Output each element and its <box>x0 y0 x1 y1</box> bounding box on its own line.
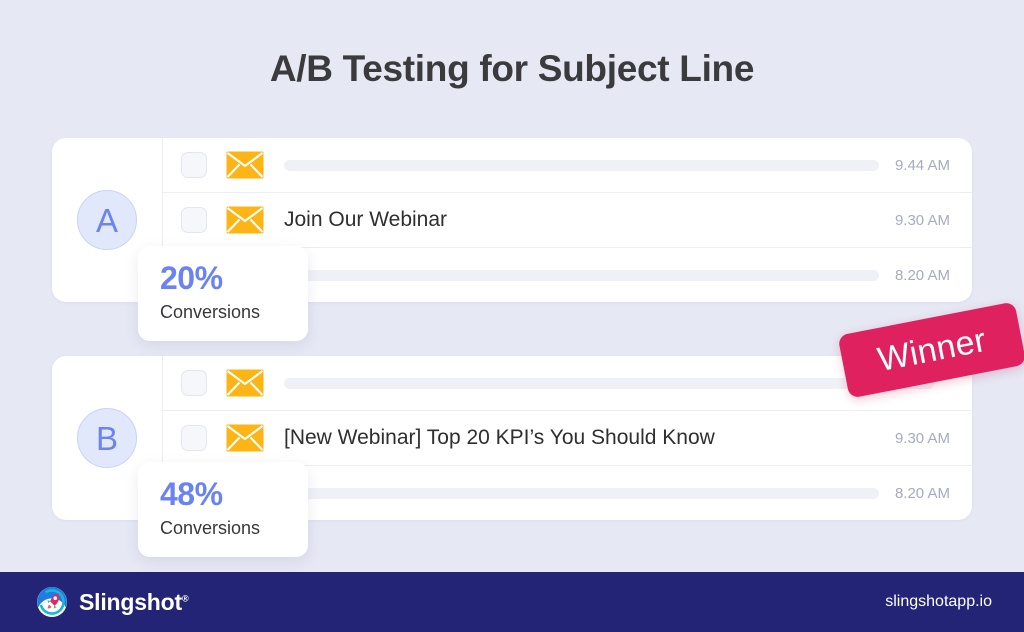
row-checkbox[interactable] <box>181 207 207 233</box>
subject-placeholder-bar <box>284 160 879 171</box>
conversions-card-a: 20% Conversions <box>138 246 308 341</box>
row-content: Join Our Webinar <box>284 208 879 232</box>
subject-placeholder-bar <box>284 270 879 281</box>
brand-lockup: Slingshot® <box>36 586 188 618</box>
avatar: B <box>77 408 137 468</box>
conversion-percent: 48% <box>160 478 288 512</box>
footer-website-url: slingshotapp.io <box>885 593 992 611</box>
mail-row[interactable]: Join Our Webinar 9.30 AM <box>163 193 972 248</box>
conversion-label: Conversions <box>160 518 288 539</box>
row-timestamp: 8.20 AM <box>895 267 950 284</box>
subject-placeholder-bar <box>284 378 934 389</box>
row-content <box>284 160 879 171</box>
winner-badge-label: Winner <box>875 320 990 379</box>
subject-placeholder-bar <box>284 488 879 499</box>
row-timestamp: 8.20 AM <box>895 485 950 502</box>
brand-name-text: Slingshot <box>79 589 182 615</box>
brand-wordmark: Slingshot® <box>79 589 188 616</box>
row-timestamp: 9.30 AM <box>895 212 950 229</box>
email-subject: [New Webinar] Top 20 KPI’s You Should Kn… <box>284 426 715 450</box>
row-timestamp: 9.44 AM <box>895 157 950 174</box>
mail-row[interactable]: 9.44 AM <box>163 138 972 193</box>
footer-bar: Slingshot® slingshotapp.io <box>0 572 1024 632</box>
trademark-symbol: ® <box>182 593 188 603</box>
row-content <box>284 270 879 281</box>
row-checkbox[interactable] <box>181 370 207 396</box>
email-subject: Join Our Webinar <box>284 208 447 232</box>
row-checkbox[interactable] <box>181 152 207 178</box>
avatar: A <box>77 190 137 250</box>
conversion-percent: 20% <box>160 262 288 296</box>
row-content <box>284 378 934 389</box>
envelope-icon <box>226 424 264 452</box>
conversion-label: Conversions <box>160 302 288 323</box>
envelope-icon <box>226 369 264 397</box>
infographic-canvas: A/B Testing for Subject Line A 9.44 AM <box>0 0 1024 632</box>
row-timestamp: 9.30 AM <box>895 430 950 447</box>
envelope-icon <box>226 151 264 179</box>
page-title: A/B Testing for Subject Line <box>0 48 1024 90</box>
slingshot-rocket-logo-icon <box>36 586 68 618</box>
row-content: [New Webinar] Top 20 KPI’s You Should Kn… <box>284 426 879 450</box>
row-checkbox[interactable] <box>181 425 207 451</box>
mail-row[interactable]: [New Webinar] Top 20 KPI’s You Should Kn… <box>163 411 972 466</box>
conversions-card-b: 48% Conversions <box>138 462 308 557</box>
row-content <box>284 488 879 499</box>
envelope-icon <box>226 206 264 234</box>
